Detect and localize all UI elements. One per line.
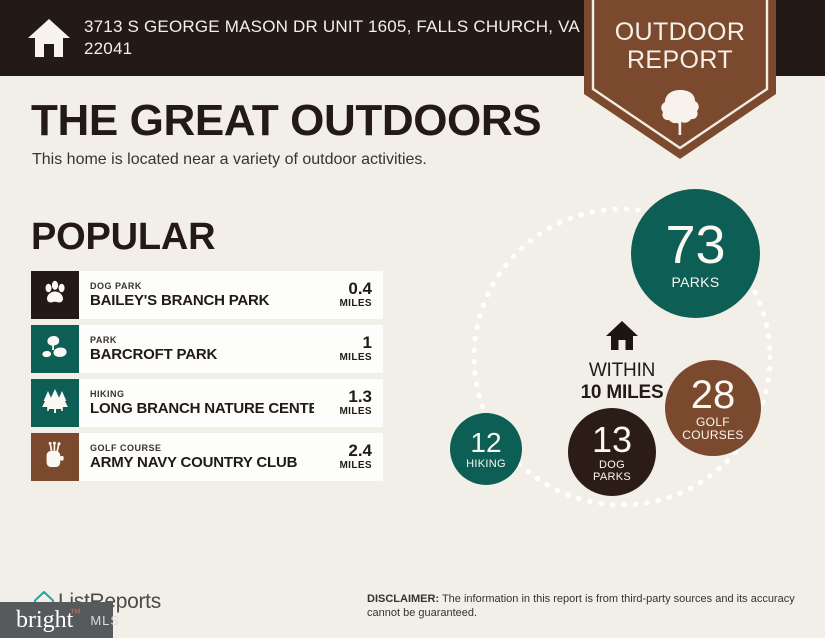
- distance-value: 1: [314, 334, 372, 352]
- bright-mls-logo[interactable]: bright ™ MLS: [0, 602, 113, 638]
- list-item-distance: 1 MILES: [314, 334, 383, 364]
- tile-park: [31, 325, 79, 373]
- infographic-center: WITHIN 10 MILES: [542, 320, 702, 404]
- pine-trees-icon: [41, 387, 69, 420]
- distance-unit: MILES: [314, 406, 372, 418]
- list-item-text: PARK BARCROFT PARK: [79, 335, 314, 364]
- center-text: WITHIN 10 MILES: [542, 360, 702, 404]
- stat-label-line1: GOLF: [682, 416, 743, 429]
- stat-label-line2: COURSES: [682, 429, 743, 442]
- property-address: 3713 S GEORGE MASON DR UNIT 1605, FALLS …: [84, 16, 584, 60]
- list-item[interactable]: PARK BARCROFT PARK 1 MILES: [31, 325, 383, 373]
- center-line1: WITHIN: [542, 360, 702, 382]
- center-line2: 10 MILES: [581, 382, 664, 403]
- page-subtitle: This home is located near a variety of o…: [32, 151, 427, 169]
- list-item-distance: 1.3 MILES: [314, 388, 383, 418]
- list-item[interactable]: HIKING LONG BRANCH NATURE CENTER 1.3 MIL…: [31, 379, 383, 427]
- home-icon: [605, 339, 639, 356]
- list-item-category: PARK: [90, 335, 314, 346]
- tile-hiking: [31, 379, 79, 427]
- outdoor-report-badge: OUTDOOR REPORT: [580, 0, 780, 161]
- list-item-name: ARMY NAVY COUNTRY CLUB: [90, 454, 300, 472]
- tree-icon: [658, 88, 702, 136]
- golf-bag-icon: [41, 441, 69, 474]
- list-item-text: DOG PARK BAILEY'S BRANCH PARK: [79, 281, 314, 310]
- stat-label-line2: PARKS: [593, 471, 631, 483]
- distance-unit: MILES: [314, 352, 372, 364]
- list-item-name: BAILEY'S BRANCH PARK: [90, 292, 314, 310]
- disclaimer: DISCLAIMER: The information in this repo…: [367, 592, 797, 620]
- distance-unit: MILES: [314, 460, 372, 472]
- list-item-category: HIKING: [90, 389, 314, 400]
- popular-list: DOG PARK BAILEY'S BRANCH PARK 0.4 MILES …: [31, 271, 383, 487]
- badge-line2: REPORT: [580, 46, 780, 74]
- tile-golf-course: [31, 433, 79, 481]
- disclaimer-label: DISCLAIMER:: [367, 593, 439, 605]
- list-item-distance: 0.4 MILES: [314, 280, 383, 310]
- page-title: THE GREAT OUTDOORS: [31, 96, 541, 146]
- paw-icon: [41, 279, 69, 312]
- park-tree-icon: [41, 333, 69, 366]
- stat-label-line1: DOG: [593, 459, 631, 471]
- stat-value: 13: [592, 422, 632, 458]
- distance-unit: MILES: [314, 298, 372, 310]
- stat-value: 73: [665, 218, 725, 272]
- list-item-name: BARCROFT PARK: [90, 346, 314, 364]
- list-item-category: GOLF COURSE: [90, 443, 314, 454]
- home-icon: [27, 17, 71, 59]
- stat-value: 12: [470, 429, 501, 457]
- stat-label: HIKING: [466, 458, 506, 470]
- trademark-symbol: ™: [69, 606, 81, 620]
- tile-dog-park: [31, 271, 79, 319]
- list-item-name: LONG BRANCH NATURE CENTER: [90, 400, 314, 418]
- popular-heading: POPULAR: [31, 216, 215, 259]
- amenities-infographic: 73 PARKS 28 GOLF COURSES 13 DOG PARKS 12…: [420, 170, 825, 570]
- mls-label: MLS: [90, 613, 120, 628]
- list-item-distance: 2.4 MILES: [314, 442, 383, 472]
- badge-line1: OUTDOOR: [580, 18, 780, 46]
- distance-value: 0.4: [314, 280, 372, 298]
- list-item[interactable]: DOG PARK BAILEY'S BRANCH PARK 0.4 MILES: [31, 271, 383, 319]
- stat-label: GOLF COURSES: [682, 416, 743, 442]
- stat-circle-dog-parks[interactable]: 13 DOG PARKS: [568, 408, 656, 496]
- badge-title: OUTDOOR REPORT: [580, 18, 780, 74]
- stat-circle-parks[interactable]: 73 PARKS: [631, 189, 760, 318]
- list-item-category: DOG PARK: [90, 281, 314, 292]
- stat-circle-hiking[interactable]: 12 HIKING: [450, 413, 522, 485]
- list-item-text: GOLF COURSE ARMY NAVY COUNTRY CLUB: [79, 443, 314, 472]
- stat-label: PARKS: [672, 274, 720, 290]
- bright-label: bright: [16, 608, 73, 632]
- list-item-text: HIKING LONG BRANCH NATURE CENTER: [79, 389, 314, 418]
- stat-label: DOG PARKS: [593, 459, 631, 483]
- distance-value: 2.4: [314, 442, 372, 460]
- distance-value: 1.3: [314, 388, 372, 406]
- outdoor-report-page: 3713 S GEORGE MASON DR UNIT 1605, FALLS …: [0, 0, 825, 638]
- list-item[interactable]: GOLF COURSE ARMY NAVY COUNTRY CLUB 2.4 M…: [31, 433, 383, 481]
